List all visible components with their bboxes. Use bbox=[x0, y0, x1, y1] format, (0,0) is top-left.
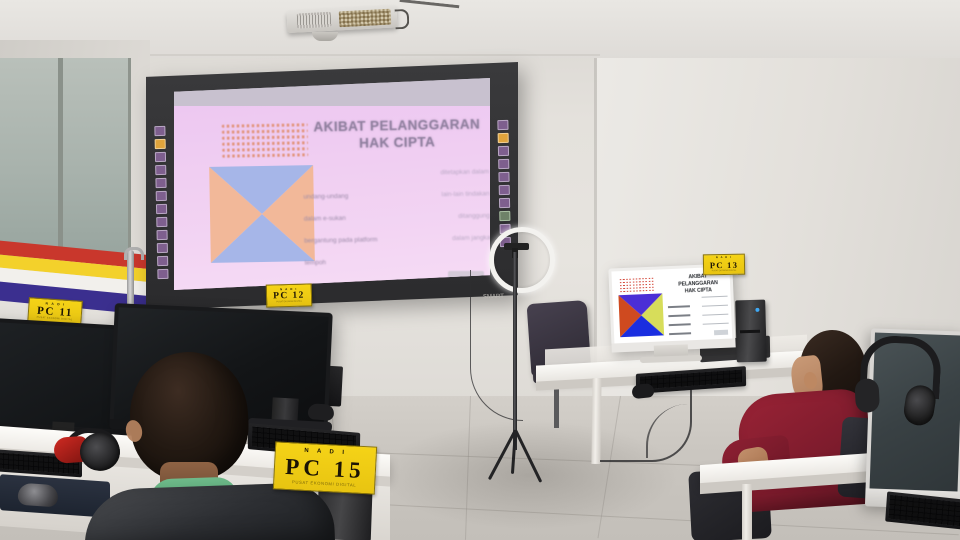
monitor-pc13[interactable]: AKIBAT PELANGGARAN HAK CIPTA bbox=[608, 263, 735, 352]
slide-bullet-right: lain-lain tindakan bbox=[441, 190, 489, 198]
toolbar-icon-menu[interactable] bbox=[154, 126, 165, 136]
toolbar-icon-page[interactable] bbox=[156, 230, 167, 240]
slide-bullets: ditetapkan dalam undang-undang lain-lain… bbox=[303, 168, 490, 281]
toolbar-icon-volume-up[interactable] bbox=[497, 146, 508, 156]
interactive-whiteboard[interactable]: HITACHI SMART bbox=[146, 62, 518, 310]
ring-light[interactable] bbox=[489, 227, 555, 293]
sign-subtitle: PUSAT EKONOMI DIGITAL bbox=[292, 481, 356, 489]
sign-pc-id: PC 15 bbox=[285, 455, 366, 482]
sign-pc12: N A D I PC 12 PUSAT EKONOMI DIGITAL bbox=[266, 283, 313, 307]
mouse-pc15[interactable] bbox=[307, 403, 334, 421]
mini-slide-button bbox=[714, 330, 728, 336]
slide-bullet-row: undang-undang lain-lain tindakan bbox=[303, 190, 489, 215]
slide-title-line2: HAK CIPTA bbox=[312, 133, 482, 153]
slide-bullet-right: dalam jangka bbox=[452, 234, 490, 242]
toolbar-icon-brightness[interactable] bbox=[498, 172, 509, 182]
projector-grill-icon bbox=[339, 9, 392, 28]
headset-left[interactable] bbox=[50, 426, 125, 477]
slide-bullet-right: ditanggung bbox=[458, 212, 490, 220]
slide-x-shape bbox=[209, 165, 315, 263]
headset-earcup bbox=[854, 378, 880, 413]
slide-bullet-left: bergantung pada platform bbox=[304, 236, 377, 244]
wall-pole-hook bbox=[124, 247, 144, 260]
toolbar-icon-redo[interactable] bbox=[156, 217, 167, 227]
mini-slide-x-shape bbox=[618, 293, 664, 337]
toolbar-icon-input[interactable] bbox=[497, 133, 508, 143]
toolbar-icon-eraser[interactable] bbox=[155, 165, 166, 175]
slide-bullet-left: undang-undang bbox=[303, 193, 348, 201]
projected-slide: AKIBAT PELANGGARAN HAK CIPTA ditetapkan … bbox=[174, 78, 490, 290]
headset-right[interactable] bbox=[854, 334, 937, 428]
tripod-stand[interactable] bbox=[513, 252, 517, 450]
toolbar-icon-highlight[interactable] bbox=[154, 139, 165, 149]
mouse-pc11[interactable] bbox=[17, 483, 58, 508]
pc-tower-13[interactable] bbox=[735, 300, 767, 363]
toolbar-icon-freeze[interactable] bbox=[498, 185, 509, 195]
toolbar-icon-pen[interactable] bbox=[154, 152, 165, 162]
toolbar-icon-volume-down[interactable] bbox=[498, 159, 509, 169]
toolbar-icon-select[interactable] bbox=[155, 191, 166, 201]
toolbar-icon-more[interactable] bbox=[157, 269, 168, 279]
sign-subtitle: PUSAT EKONOMI DIGITAL bbox=[276, 301, 302, 304]
sign-pc13: N A D I PC 13 PUSAT EKONOMI DIGITAL bbox=[703, 254, 745, 276]
toolbar-icon-save[interactable] bbox=[156, 243, 167, 253]
sign-subtitle: PUSAT EKONOMI DIGITAL bbox=[712, 269, 737, 271]
mini-slide-title: AKIBAT PELANGGARAN HAK CIPTA bbox=[670, 273, 727, 296]
slide-bullet-row: dalam e-sukan ditanggung bbox=[304, 212, 490, 237]
toolbar-icon-shape[interactable] bbox=[155, 178, 166, 188]
toolbar-icon-settings[interactable] bbox=[157, 256, 168, 266]
slide-wave-decoration bbox=[222, 123, 309, 158]
sign-pc15: N A D I PC 15 PUSAT EKONOMI DIGITAL bbox=[273, 441, 377, 494]
drive-bay bbox=[740, 330, 760, 334]
window-pane bbox=[0, 58, 131, 263]
toolbar-icon-power[interactable] bbox=[497, 120, 508, 130]
toolbar-icon-source[interactable] bbox=[499, 211, 510, 221]
toolbar-icon-blank[interactable] bbox=[498, 198, 509, 208]
monitor-pc13-screen: AKIBAT PELANGGARAN HAK CIPTA bbox=[611, 267, 732, 344]
slide-bullet-row: bergantung pada platform dalam jangka bbox=[304, 234, 490, 259]
slide-title: AKIBAT PELANGGARAN HAK CIPTA bbox=[312, 117, 483, 154]
window-mullion bbox=[58, 58, 63, 263]
classroom-photo: HITACHI SMART bbox=[0, 0, 960, 540]
power-led-icon bbox=[755, 308, 759, 312]
slide-bullet-left: dalam e-sukan bbox=[304, 215, 346, 223]
ceiling-projector bbox=[286, 1, 405, 37]
slide-bullet-left: tempoh bbox=[305, 259, 326, 266]
whiteboard-brand-label: HITACHI bbox=[154, 71, 180, 78]
toolbar-icon-undo[interactable] bbox=[155, 204, 166, 214]
projector-arm bbox=[395, 9, 410, 30]
slide-bullet-right: ditetapkan dalam bbox=[440, 168, 489, 176]
projector-vent-icon bbox=[297, 12, 332, 29]
slide-bullet-row: ditetapkan dalam bbox=[303, 168, 489, 193]
mini-slide-wave bbox=[620, 278, 655, 293]
desk-leg bbox=[742, 484, 752, 540]
slide-title-line1: AKIBAT PELANGGARAN bbox=[312, 117, 482, 137]
